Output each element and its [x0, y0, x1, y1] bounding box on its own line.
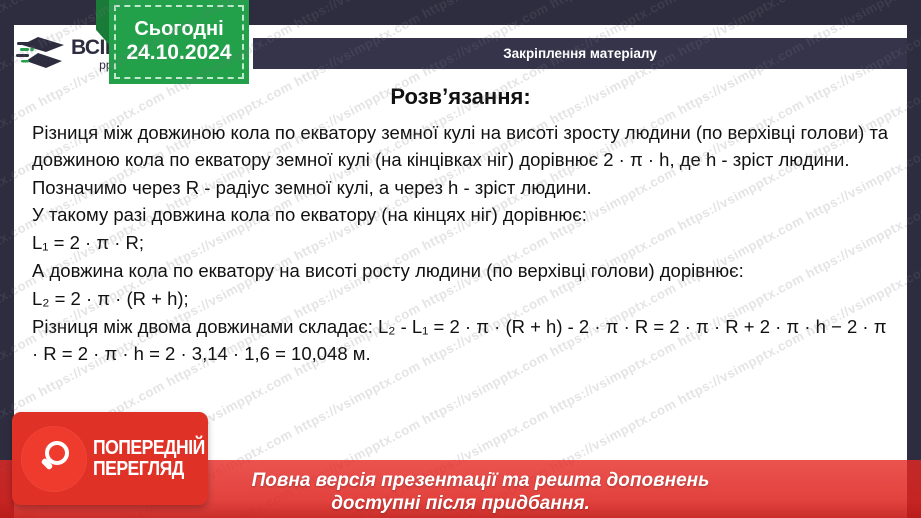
magnifier-icon [21, 426, 87, 492]
formula-l2: L₂ = 2 · π · (R + h); [32, 286, 889, 313]
preview-badge[interactable]: ПОПЕРЕДНІЙ ПЕРЕГЛЯД [12, 412, 208, 505]
page-title: Розв’язання: [14, 84, 907, 110]
solution-paragraph-5: Різниця між двома довжинами складає: L₂ … [32, 314, 889, 368]
preview-badge-line-2: ПЕРЕГЛЯД [93, 459, 205, 479]
formula-l1: L₁ = 2 · π · R; [32, 230, 889, 257]
date-badge-label: Сьогодні [134, 18, 223, 41]
date-badge: Сьогодні 24.10.2024 [109, 0, 249, 84]
solution-paragraph-2: Позначимо через R - радіус земної кулі, … [32, 175, 889, 202]
section-header-bar: Закріплення матеріалу [253, 38, 907, 69]
preview-badge-line-1: ПОПЕРЕДНІЙ [93, 438, 205, 458]
date-badge-value: 24.10.2024 [126, 41, 231, 65]
solution-paragraph-3: У такому разі довжина кола по екватору (… [32, 202, 889, 229]
slide-root: ВСІМ pptx Сьогодні 24.10.2024 Закріпленн… [0, 0, 921, 518]
slide-right-frame [907, 0, 921, 518]
solution-paragraph-4: А довжина кола по екватору на висоті рос… [32, 258, 889, 285]
solution-body: Різниця між довжиною кола по екватору зе… [32, 120, 889, 367]
preview-badge-labels: ПОПЕРЕДНІЙ ПЕРЕГЛЯД [93, 438, 220, 479]
section-header-title: Закріплення матеріалу [503, 46, 657, 61]
solution-paragraph-1: Різниця між довжиною кола по екватору зе… [32, 120, 889, 174]
graduation-cap-icon [16, 31, 68, 77]
